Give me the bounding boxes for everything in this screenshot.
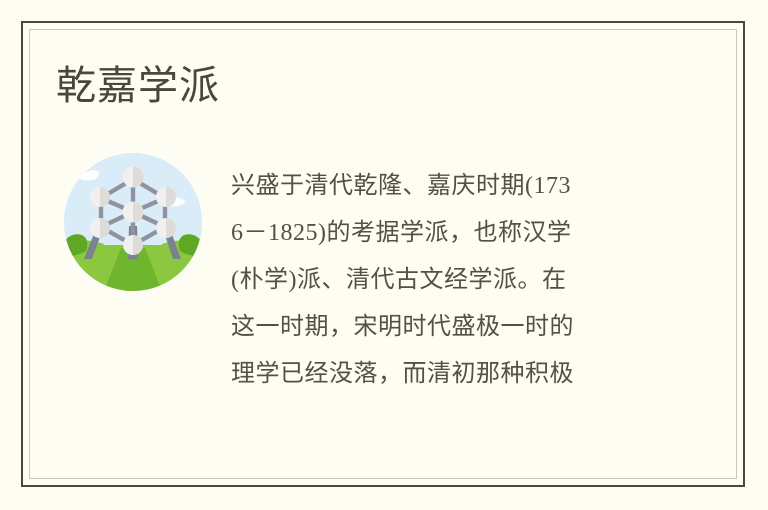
page-title: 乾嘉学派 <box>56 62 220 110</box>
body-line: 这一时期，宋明时代盛极一时的 <box>231 304 647 351</box>
body-line: 6－1825)的考据学派，也称汉学 <box>231 210 647 257</box>
body-line: (朴学)派、清代古文经学派。在 <box>231 257 647 304</box>
body-line: 理学已经没落，而清初那种积极 <box>231 351 647 398</box>
body-line: 兴盛于清代乾隆、嘉庆时期(173 <box>231 163 647 210</box>
article-card: 乾嘉学派 <box>0 0 768 510</box>
atomium-illustration-icon <box>64 153 202 291</box>
article-body: 兴盛于清代乾隆、嘉庆时期(173 6－1825)的考据学派，也称汉学 (朴学)派… <box>231 163 647 398</box>
article-thumbnail <box>64 153 202 291</box>
